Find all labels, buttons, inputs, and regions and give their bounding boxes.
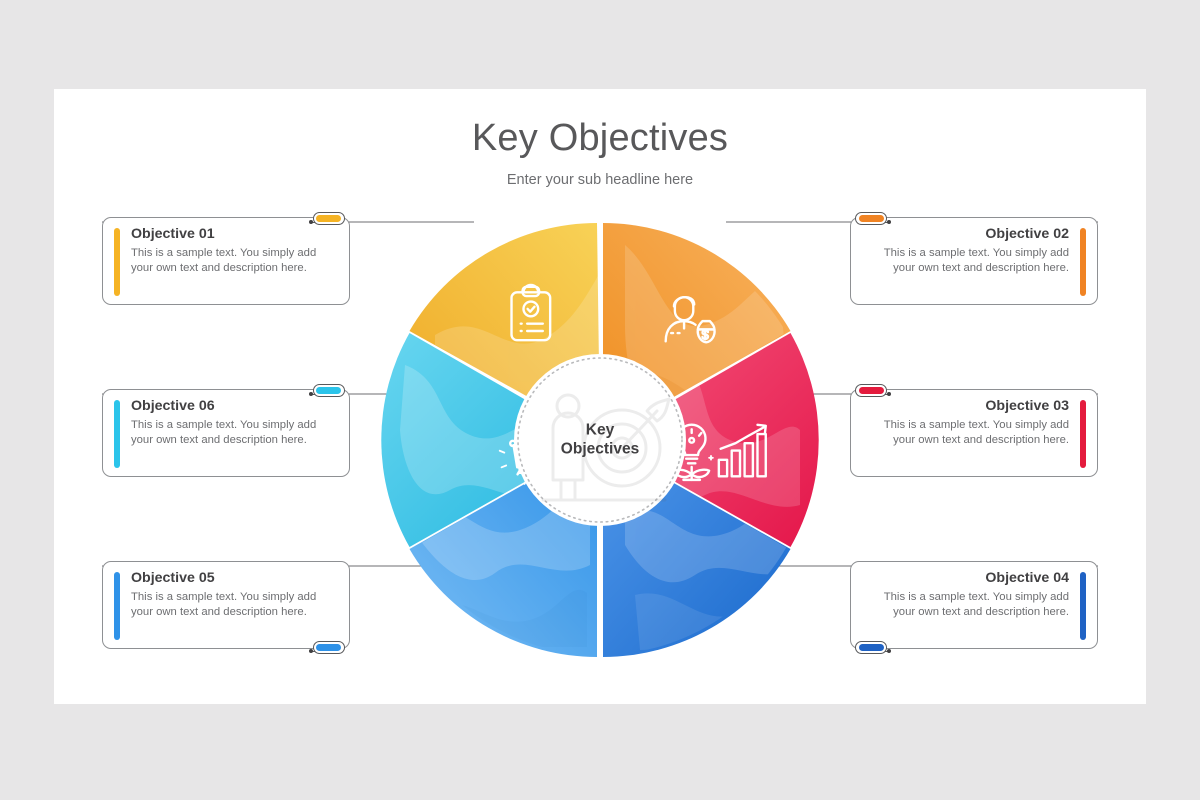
card-objective-06[interactable]: Objective 06 This is a sample text. You …: [102, 389, 350, 477]
page-subtitle: Enter your sub headline here: [54, 172, 1146, 188]
marker-fill-04: [859, 644, 884, 651]
card-objective-04[interactable]: Objective 04 This is a sample text. You …: [850, 561, 1098, 649]
marker-fill-05: [316, 644, 341, 651]
card-text-06: Objective 06 This is a sample text. You …: [131, 398, 321, 448]
marker-fill-01: [316, 215, 341, 222]
accent-bar-02: [1080, 228, 1086, 296]
card-heading-03: Objective 03: [879, 398, 1069, 415]
card-body-05: This is a sample text. You simply add yo…: [131, 590, 321, 620]
connector-marker-02: [855, 212, 895, 225]
screenshot-root: Key Objectives Enter your sub headline h…: [0, 0, 1200, 800]
card-text-02: Objective 02 This is a sample text. You …: [879, 226, 1069, 276]
accent-bar-05: [114, 572, 120, 640]
card-objective-02[interactable]: Objective 02 This is a sample text. You …: [850, 217, 1098, 305]
marker-dot: [887, 220, 891, 224]
card-body-01: This is a sample text. You simply add yo…: [131, 246, 321, 276]
card-body-02: This is a sample text. You simply add yo…: [879, 246, 1069, 276]
card-body-04: This is a sample text. You simply add yo…: [879, 590, 1069, 620]
marker-dot: [887, 392, 891, 396]
card-text-05: Objective 05 This is a sample text. You …: [131, 570, 321, 620]
marker-fill-03: [859, 387, 884, 394]
accent-bar-04: [1080, 572, 1086, 640]
wheel-hub: [514, 354, 686, 526]
connector-marker-04: [855, 641, 895, 654]
card-body-03: This is a sample text. You simply add yo…: [879, 418, 1069, 448]
accent-bar-01: [114, 228, 120, 296]
marker-dot: [887, 649, 891, 653]
connector-marker-03: [855, 384, 895, 397]
accent-bar-03: [1080, 400, 1086, 468]
accent-bar-06: [114, 400, 120, 468]
card-text-03: Objective 03 This is a sample text. You …: [879, 398, 1069, 448]
connector-marker-06: [305, 384, 345, 397]
card-heading-06: Objective 06: [131, 398, 321, 415]
connector-marker-01: [305, 212, 345, 225]
card-objective-01[interactable]: Objective 01 This is a sample text. You …: [102, 217, 350, 305]
card-objective-05[interactable]: Objective 05 This is a sample text. You …: [102, 561, 350, 649]
card-body-06: This is a sample text. You simply add yo…: [131, 418, 321, 448]
card-text-01: Objective 01 This is a sample text. You …: [131, 226, 321, 276]
objectives-wheel: Key Objectives: [375, 215, 825, 665]
slide-surface: Key Objectives Enter your sub headline h…: [54, 89, 1146, 704]
card-objective-03[interactable]: Objective 03 This is a sample text. You …: [850, 389, 1098, 477]
connector-marker-05: [305, 641, 345, 654]
card-heading-05: Objective 05: [131, 570, 321, 587]
marker-fill-06: [316, 387, 341, 394]
card-heading-01: Objective 01: [131, 226, 321, 243]
marker-fill-02: [859, 215, 884, 222]
card-text-04: Objective 04 This is a sample text. You …: [879, 570, 1069, 620]
page-title: Key Objectives: [54, 117, 1146, 160]
card-heading-04: Objective 04: [879, 570, 1069, 587]
card-heading-02: Objective 02: [879, 226, 1069, 243]
